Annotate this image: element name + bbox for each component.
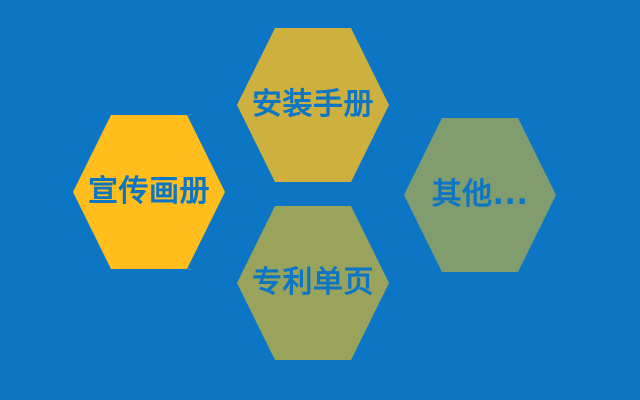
hex-label-others: 其他... <box>432 180 529 210</box>
diagram-canvas: 宣传画册安装手册专利单页其他... <box>0 0 640 400</box>
hex-label-patent-flyer: 专利单页 <box>252 268 374 298</box>
hex-label-installation-manual: 安装手册 <box>252 90 374 120</box>
hex-label-promo-brochure: 宣传画册 <box>88 177 210 207</box>
